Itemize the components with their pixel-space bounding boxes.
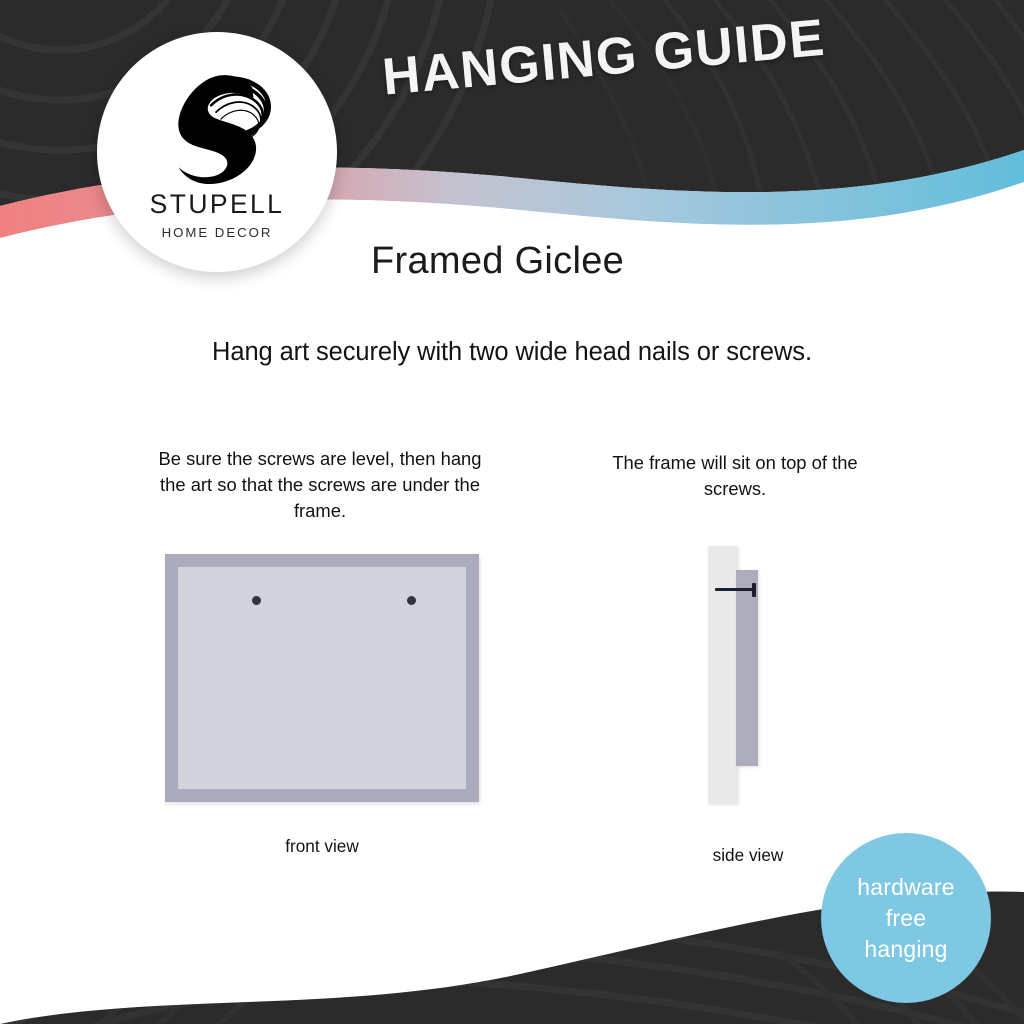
stupell-swoosh-logo-icon [158,58,276,186]
brand-logo-badge: STUPELL HOME DECOR [97,32,337,272]
side-view-label: side view [668,845,828,866]
brand-wordmark: STUPELL [150,189,285,220]
side-view-frame [736,570,758,766]
badge-line-1: hardware [857,872,955,903]
front-view-mat [178,567,466,789]
nail-head-icon [752,583,756,597]
product-type-title: Framed Giclee [371,240,624,283]
hanging-guide-page: HANGING GUIDE STUPELL HOME DECOR Framed … [0,0,1024,1024]
side-view-wall [708,546,738,804]
screw-dot-right [407,596,416,605]
badge-line-2: free [886,903,926,934]
page-title: HANGING GUIDE [380,8,828,108]
brand-subwordmark: HOME DECOR [162,225,273,240]
nail-shaft-icon [715,588,755,591]
front-view-diagram [165,554,479,802]
front-view-caption: Be sure the screws are level, then hang … [150,446,490,524]
main-instruction-text: Hang art securely with two wide head nai… [0,338,1024,367]
badge-line-3: hanging [864,934,947,965]
side-view-caption: The frame will sit on top of the screws. [590,450,880,502]
screw-dot-left [252,596,261,605]
hardware-free-hanging-badge: hardware free hanging [821,833,991,1003]
side-view-diagram [708,546,788,804]
front-view-label: front view [165,836,479,857]
